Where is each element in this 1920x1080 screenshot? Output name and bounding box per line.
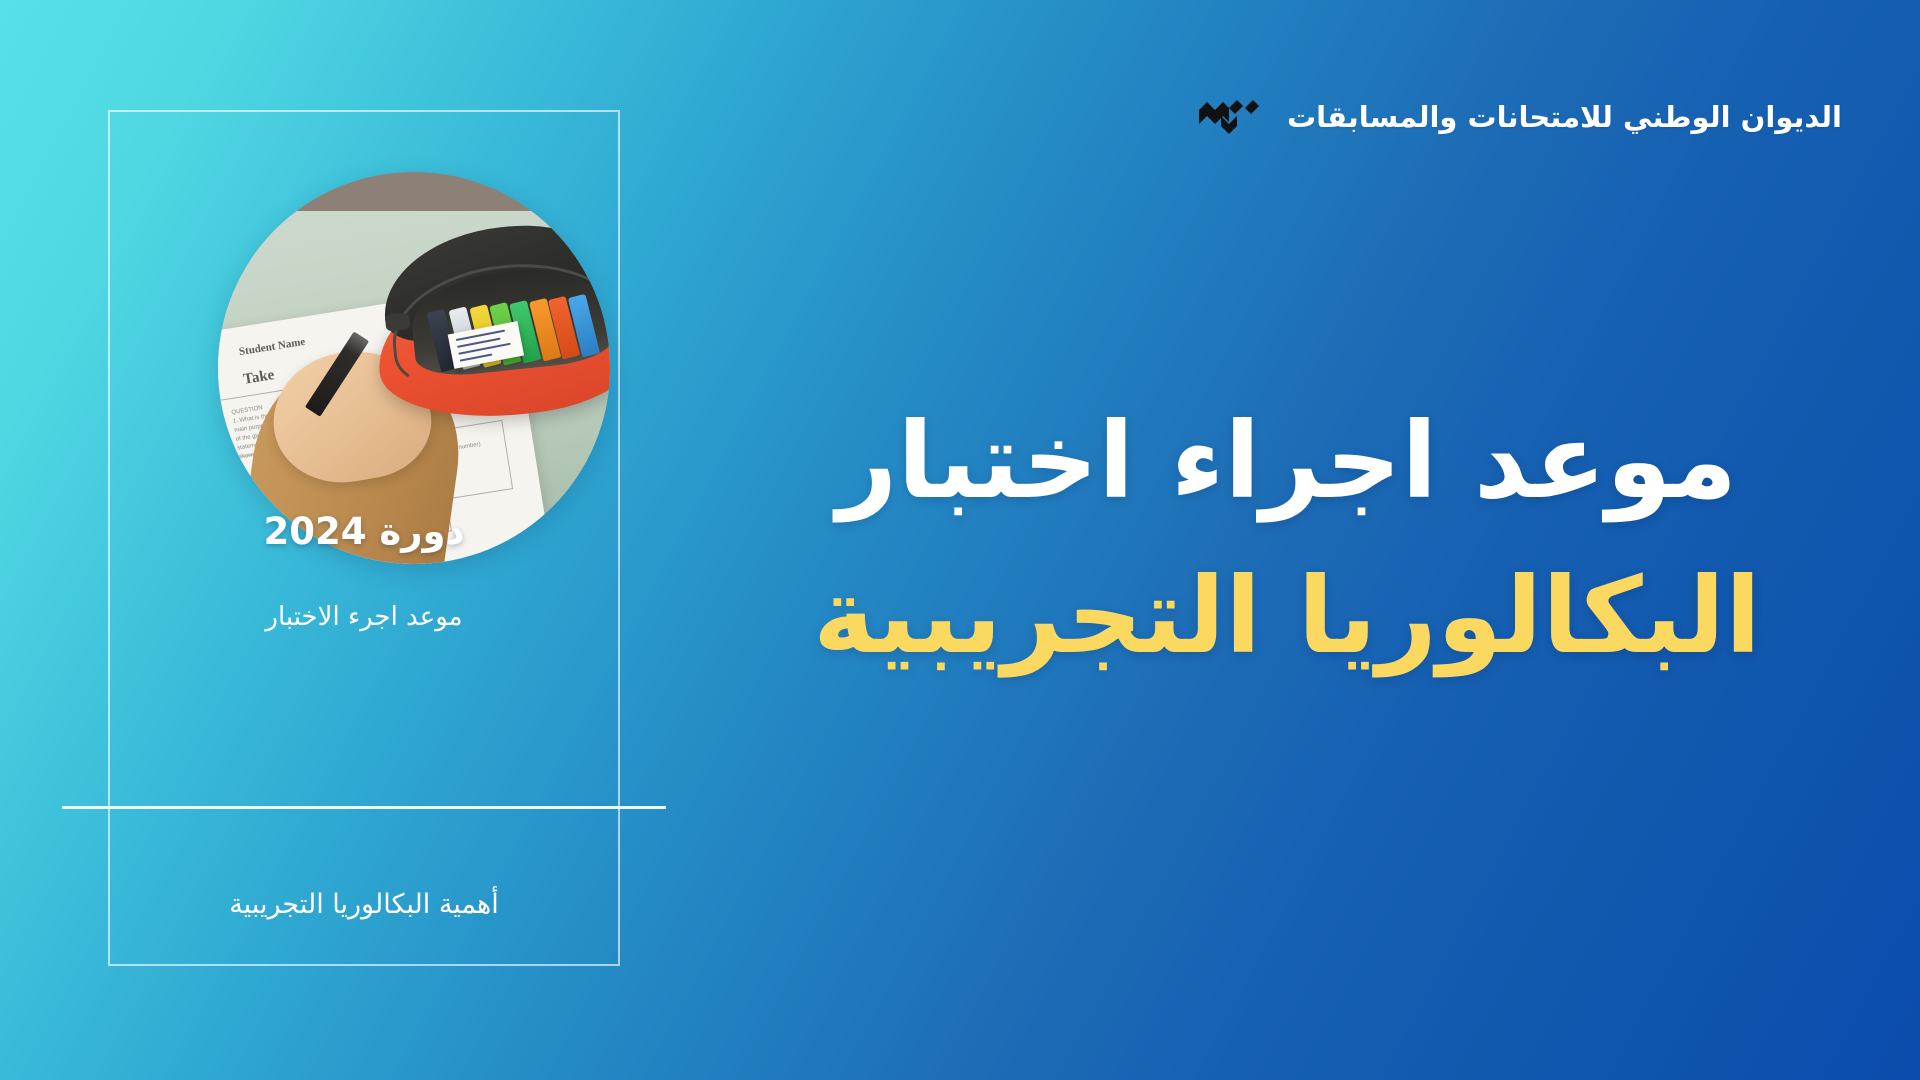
headline-line-2: البكالوريا التجريبية [762, 539, 1812, 694]
photo-caption: دورة 2024 [110, 510, 618, 553]
header-bar: الديوان الوطني للامتحانات والمسابقات [1197, 92, 1842, 144]
zipper-pull [384, 313, 410, 332]
photo-background: Student Name Take QUESTION1. What is the… [218, 172, 610, 564]
card-footer-text: أهمية البكالوريا التجريبية [110, 889, 618, 920]
pencil-case [366, 213, 610, 428]
onec-logo-icon [1197, 92, 1261, 144]
horizontal-divider [62, 806, 666, 809]
main-headline: موعد اجراء اختبار البكالوريا التجريبية [762, 384, 1812, 695]
exam-photo: Student Name Take QUESTION1. What is the… [218, 172, 610, 564]
photo-subtitle: موعد اجرء الاختبار [110, 602, 618, 632]
headline-line-1: موعد اجراء اختبار [762, 384, 1812, 539]
info-card: Student Name Take QUESTION1. What is the… [108, 110, 620, 966]
organization-title: الديوان الوطني للامتحانات والمسابقات [1287, 102, 1842, 134]
poster-canvas: الديوان الوطني للامتحانات والمسابقات موع… [0, 0, 1920, 1080]
